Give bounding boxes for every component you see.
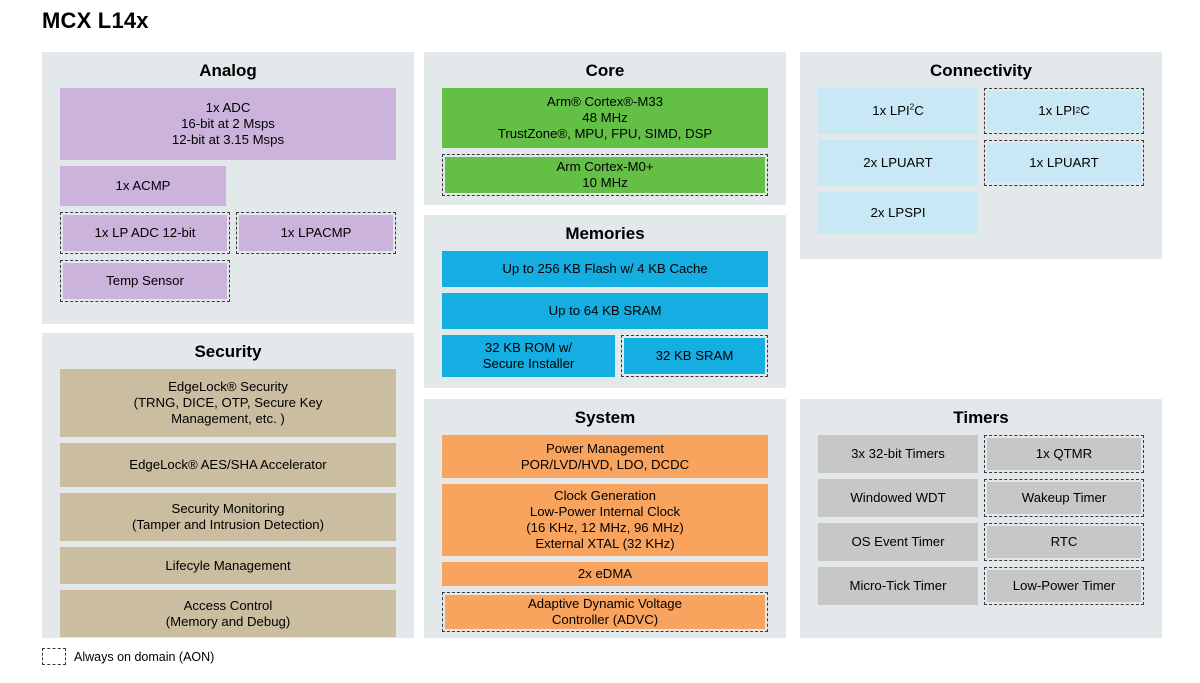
block-lpuart[interactable]: 2x LPUART: [818, 140, 978, 186]
block-label: 1x LPI2C: [872, 103, 923, 119]
panel-connectivity: Connectivity 1x LPI2C 1x LPI2C 2x LPUART…: [800, 52, 1162, 259]
block-lifecycle-management[interactable]: Lifecyle Management: [60, 547, 396, 584]
block-label: 1x ACMP: [116, 178, 171, 194]
timers-row-2: Windowed WDT Wakeup Timer: [818, 479, 1144, 523]
block-lpspi[interactable]: 2x LPSPI: [818, 192, 978, 234]
timers-row-1: 3x 32-bit Timers 1x QTMR: [818, 435, 1144, 479]
connectivity-row-1: 1x LPI2C 1x LPI2C: [818, 88, 1144, 140]
page-title: MCX L14x: [42, 8, 149, 34]
connectivity-row-2: 2x LPUART 1x LPUART: [818, 140, 1144, 192]
legend: Always on domain (AON): [42, 648, 214, 665]
block-label: 2x eDMA: [578, 566, 632, 582]
block-label: Up to 256 KB Flash w/ 4 KB Cache: [502, 261, 707, 277]
panel-title-memories: Memories: [442, 223, 768, 244]
block-label: Micro-Tick Timer: [850, 578, 947, 594]
panel-title-system: System: [442, 407, 768, 428]
block-label: 1x ADC16-bit at 2 Msps12-bit at 3.15 Msp…: [172, 100, 284, 148]
block-lpacmp[interactable]: 1x LPACMP: [236, 212, 396, 254]
block-flash[interactable]: Up to 256 KB Flash w/ 4 KB Cache: [442, 251, 768, 287]
block-temp-sensor[interactable]: Temp Sensor: [60, 260, 230, 302]
block-micro-tick-timer[interactable]: Micro-Tick Timer: [818, 567, 978, 605]
block-advc[interactable]: Adaptive Dynamic VoltageController (ADVC…: [442, 592, 768, 632]
block-lpuart-aon[interactable]: 1x LPUART: [984, 140, 1144, 186]
panel-title-timers: Timers: [818, 407, 1144, 428]
block-label: Wakeup Timer: [987, 482, 1141, 514]
block-label: 3x 32-bit Timers: [851, 446, 945, 462]
block-label: EdgeLock® Security(TRNG, DICE, OTP, Secu…: [134, 379, 323, 427]
block-lp-adc[interactable]: 1x LP ADC 12-bit: [60, 212, 230, 254]
block-label: 2x LPSPI: [871, 205, 926, 221]
panel-memories: Memories Up to 256 KB Flash w/ 4 KB Cach…: [424, 215, 786, 388]
panel-title-core: Core: [442, 60, 768, 81]
block-edgelock-security[interactable]: EdgeLock® Security(TRNG, DICE, OTP, Secu…: [60, 369, 396, 437]
block-label: Access Control(Memory and Debug): [166, 598, 291, 630]
block-wakeup-timer[interactable]: Wakeup Timer: [984, 479, 1144, 517]
block-label: 1x LPI2C: [987, 91, 1141, 131]
block-label: Low-Power Timer: [987, 570, 1141, 602]
timers-row-3: OS Event Timer RTC: [818, 523, 1144, 567]
panel-title-connectivity: Connectivity: [818, 60, 1144, 81]
block-label: Windowed WDT: [850, 490, 945, 506]
block-cortex-m33[interactable]: Arm® Cortex®-M3348 MHzTrustZone®, MPU, F…: [442, 88, 768, 148]
block-label: Arm Cortex-M0+10 MHz: [445, 157, 765, 193]
block-label: Adaptive Dynamic VoltageController (ADVC…: [445, 595, 765, 629]
analog-aon-row: 1x LP ADC 12-bit 1x LPACMP: [60, 212, 396, 260]
block-label: Clock GenerationLow-Power Internal Clock…: [526, 488, 684, 552]
timers-row-4: Micro-Tick Timer Low-Power Timer: [818, 567, 1144, 611]
block-label: 32 KB SRAM: [624, 338, 765, 374]
block-sram-64kb[interactable]: Up to 64 KB SRAM: [442, 293, 768, 329]
block-label: 2x LPUART: [863, 155, 932, 171]
block-os-event-timer[interactable]: OS Event Timer: [818, 523, 978, 561]
block-security-monitoring[interactable]: Security Monitoring(Tamper and Intrusion…: [60, 493, 396, 541]
block-label: EdgeLock® AES/SHA Accelerator: [129, 457, 326, 473]
dashed-box-swatch-icon: [42, 648, 66, 665]
block-label: Arm® Cortex®-M3348 MHzTrustZone®, MPU, F…: [498, 94, 712, 142]
block-label: Temp Sensor: [63, 263, 227, 299]
block-label: RTC: [987, 526, 1141, 558]
block-low-power-timer[interactable]: Low-Power Timer: [984, 567, 1144, 605]
block-32bit-timers[interactable]: 3x 32-bit Timers: [818, 435, 978, 473]
block-label: 1x LPUART: [987, 143, 1141, 183]
block-label: OS Event Timer: [851, 534, 944, 550]
panel-system: System Power ManagementPOR/LVD/HVD, LDO,…: [424, 399, 786, 638]
block-label: Lifecyle Management: [165, 558, 290, 574]
block-label: 32 KB ROM w/Secure Installer: [483, 340, 575, 372]
block-rom-32kb[interactable]: 32 KB ROM w/Secure Installer: [442, 335, 615, 377]
panel-title-analog: Analog: [60, 60, 396, 81]
block-label: 1x LP ADC 12-bit: [63, 215, 227, 251]
panel-analog: Analog 1x ADC16-bit at 2 Msps12-bit at 3…: [42, 52, 414, 324]
block-adc[interactable]: 1x ADC16-bit at 2 Msps12-bit at 3.15 Msp…: [60, 88, 396, 160]
block-edma[interactable]: 2x eDMA: [442, 562, 768, 586]
block-rtc[interactable]: RTC: [984, 523, 1144, 561]
block-label: 1x LPACMP: [239, 215, 393, 251]
panel-title-security: Security: [60, 341, 396, 362]
panel-security: Security EdgeLock® Security(TRNG, DICE, …: [42, 333, 414, 638]
memories-bottom-row: 32 KB ROM w/Secure Installer 32 KB SRAM: [442, 335, 768, 383]
block-power-management[interactable]: Power ManagementPOR/LVD/HVD, LDO, DCDC: [442, 435, 768, 478]
block-sram-32kb[interactable]: 32 KB SRAM: [621, 335, 768, 377]
block-label: Power ManagementPOR/LVD/HVD, LDO, DCDC: [521, 441, 689, 473]
connectivity-row-3: 2x LPSPI: [818, 192, 1144, 240]
legend-label: Always on domain (AON): [74, 650, 214, 664]
block-access-control[interactable]: Access Control(Memory and Debug): [60, 590, 396, 637]
block-cortex-m0plus[interactable]: Arm Cortex-M0+10 MHz: [442, 154, 768, 196]
block-label: 1x QTMR: [987, 438, 1141, 470]
block-windowed-wdt[interactable]: Windowed WDT: [818, 479, 978, 517]
block-label: Up to 64 KB SRAM: [549, 303, 662, 319]
panel-timers: Timers 3x 32-bit Timers 1x QTMR Windowed…: [800, 399, 1162, 638]
block-qtmr[interactable]: 1x QTMR: [984, 435, 1144, 473]
block-acmp[interactable]: 1x ACMP: [60, 166, 226, 206]
block-clock-generation[interactable]: Clock GenerationLow-Power Internal Clock…: [442, 484, 768, 556]
block-label: Security Monitoring(Tamper and Intrusion…: [132, 501, 324, 533]
panel-core: Core Arm® Cortex®-M3348 MHzTrustZone®, M…: [424, 52, 786, 205]
block-lpi2c[interactable]: 1x LPI2C: [818, 88, 978, 134]
block-lpi2c-aon[interactable]: 1x LPI2C: [984, 88, 1144, 134]
block-aes-sha[interactable]: EdgeLock® AES/SHA Accelerator: [60, 443, 396, 487]
